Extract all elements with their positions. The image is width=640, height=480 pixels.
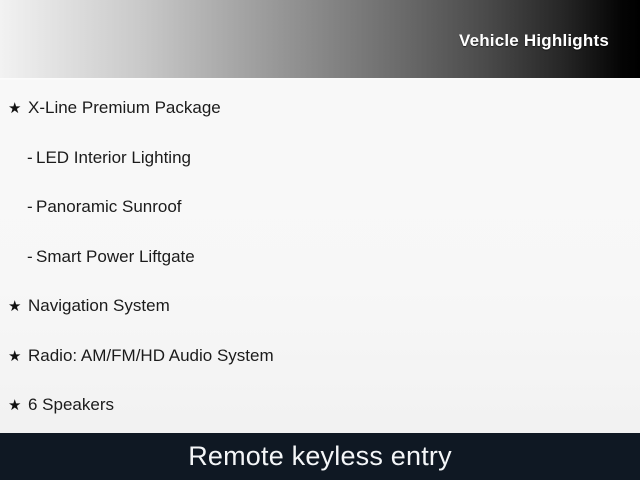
list-item: ★6 Speakers: [0, 380, 640, 430]
list-item-label: X-Line Premium Package: [28, 83, 221, 133]
list-item-label: Panoramic Sunroof: [36, 182, 182, 232]
list-item: -Smart Power Liftgate: [0, 232, 640, 282]
dash-bullet-icon: -: [27, 133, 36, 183]
star-bullet-icon: ★: [8, 332, 28, 382]
footer-caption-bar: Remote keyless entry: [0, 433, 640, 480]
star-bullet-icon: ★: [8, 381, 28, 431]
list-item: ★Radio: AM/FM/HD Audio System: [0, 331, 640, 381]
list-item: ★Navigation System: [0, 281, 640, 331]
list-item-label: Smart Power Liftgate: [36, 232, 195, 282]
page-title: Vehicle Highlights: [459, 31, 609, 51]
dash-bullet-icon: -: [27, 182, 36, 232]
feature-list: ★X-Line Premium Package -LED Interior Li…: [0, 83, 640, 430]
header-divider: [0, 78, 640, 81]
list-item-label: LED Interior Lighting: [36, 133, 191, 183]
list-item: -LED Interior Lighting: [0, 133, 640, 183]
list-item: ★X-Line Premium Package: [0, 83, 640, 133]
dash-bullet-icon: -: [27, 232, 36, 282]
footer-caption: Remote keyless entry: [188, 441, 452, 472]
star-bullet-icon: ★: [8, 84, 28, 134]
vehicle-highlights-slide: Vehicle Highlights ★X-Line Premium Packa…: [0, 0, 640, 480]
list-item-label: Navigation System: [28, 281, 170, 331]
header-banner: Vehicle Highlights: [0, 0, 640, 78]
star-bullet-icon: ★: [8, 282, 28, 332]
list-item-label: 6 Speakers: [28, 380, 114, 430]
list-item-label: Radio: AM/FM/HD Audio System: [28, 331, 274, 381]
list-item: -Panoramic Sunroof: [0, 182, 640, 232]
